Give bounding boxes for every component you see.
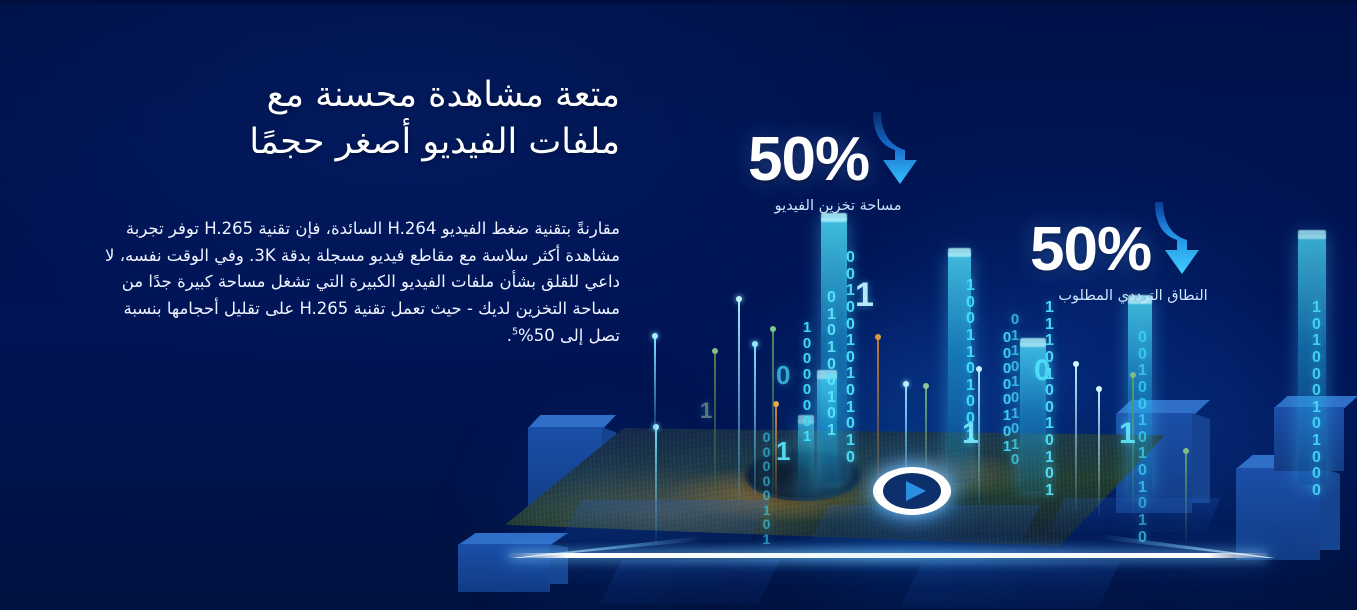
binary-column: 0 0 0 0 0 1 0 1 (760, 430, 773, 546)
cube-left-low (448, 533, 568, 593)
right-glow (1080, 330, 1357, 580)
banner: 1 0 0 0 0 0 0 1 0 1 0 1 0 0 1 0 1 0 0 1 … (0, 0, 1357, 610)
binary-column: 0 0 1 0 0 1 0 1 0 1 0 1 0 (843, 250, 858, 466)
binary-column: 1 0 1 0 0 0 1 0 1 0 0 0 (1309, 300, 1324, 500)
page-title: متعة مشاهدة محسنة مع ملفات الفيديو أصغر … (90, 72, 620, 166)
platform-rim-left (512, 536, 702, 558)
curved-down-arrow-icon (869, 110, 931, 190)
binary-column: 1 0 0 1 1 0 1 0 0 1 (963, 278, 978, 444)
pin-line (978, 370, 980, 505)
body-text: مقارنةً بتقنية ضغط الفيديو H.264 السائدة… (105, 219, 620, 345)
center-glow (700, 300, 1120, 600)
body-paragraph: مقارنةً بتقنية ضغط الفيديو H.264 السائدة… (90, 216, 620, 350)
curved-down-arrow-icon (1151, 200, 1213, 280)
platform-slab (600, 560, 780, 604)
platform-slab (810, 505, 1040, 541)
lens-ring (748, 452, 858, 498)
data-bar-tall-center (821, 218, 847, 483)
binary-digit-large: 1 (776, 438, 790, 465)
binary-column: 1 0 0 0 0 0 0 1 (800, 320, 814, 445)
platform-slab (560, 500, 770, 540)
stat-value: 50% (748, 131, 869, 190)
pin-line (1075, 365, 1077, 510)
data-bar-far-right (1298, 235, 1326, 485)
data-bar-left-short (817, 375, 837, 493)
binary-digit-large: 1 (1119, 418, 1136, 449)
cube-left-back (520, 415, 616, 533)
binary-digit-large: 0 (776, 362, 790, 389)
binary-digit-large: 0 (1034, 355, 1051, 386)
play-icon-ring (873, 467, 951, 515)
pin-line (1185, 452, 1187, 542)
pin-line (877, 338, 879, 503)
stat-row: 50% (1030, 200, 1238, 280)
cube-right-upper (1110, 400, 1210, 520)
binary-column: 1 1 1 0 1 0 0 1 0 1 0 1 (1042, 300, 1057, 500)
pin-line (754, 345, 756, 495)
binary-column: 0 1 0 1 0 0 1 0 1 (824, 290, 839, 440)
pin-line (775, 405, 777, 500)
play-icon-inner (883, 473, 941, 509)
binary-column: 0 0 1 0 0 1 0 1 0 1 0 1 0 (1135, 330, 1150, 546)
pin-line (772, 330, 774, 500)
stat-callout-storage: 50% مساحة تخزين الفيديو (748, 110, 931, 214)
platform-rim (508, 553, 1268, 558)
left-glow (470, 400, 730, 610)
pin-line (654, 337, 656, 432)
platform-rim-right (1100, 534, 1275, 558)
pin-line (925, 387, 927, 507)
stat-value: 50% (1030, 221, 1151, 280)
platform-rim-glow (490, 538, 1280, 572)
cube-right-lower (1230, 455, 1340, 565)
ground-plane-texture (505, 428, 1165, 546)
data-bar-left-stub (798, 420, 814, 498)
data-bar-right-mid (1020, 343, 1046, 491)
data-bar-center-right (948, 253, 971, 483)
data-bar-right-tall (1128, 300, 1152, 495)
pin-line (738, 300, 740, 500)
platform-slab (900, 562, 1120, 608)
play-button[interactable] (873, 467, 951, 515)
ground-plane (505, 428, 1165, 546)
stat-callout-bandwidth: 50% النطاق الترددي المطلوب (1030, 200, 1238, 304)
play-icon (906, 481, 926, 501)
binary-column: 0 1 1 0 1 0 1 0 1 0 (1008, 312, 1022, 468)
pin-line (714, 352, 716, 502)
stat-label: مساحة تخزين الفيديو (745, 198, 931, 214)
pin-line (905, 385, 907, 505)
binary-column: 0 0 0 0 0 1 0 1 (1000, 330, 1014, 455)
stat-label: النطاق الترددي المطلوب (1028, 288, 1238, 304)
pin-line (655, 428, 657, 543)
cube-right-far (1268, 396, 1357, 476)
binary-digit-large: 1 (855, 278, 874, 313)
binary-digit-large: 1 (962, 418, 979, 449)
pin-line (1132, 376, 1134, 516)
binary-digit-large: 1 (700, 400, 712, 423)
pin-line (1098, 390, 1100, 515)
top-band (0, 0, 1357, 5)
text-block: متعة مشاهدة محسنة مع ملفات الفيديو أصغر … (90, 72, 620, 349)
stat-row: 50% (748, 110, 931, 190)
platform-slab (1050, 498, 1220, 532)
